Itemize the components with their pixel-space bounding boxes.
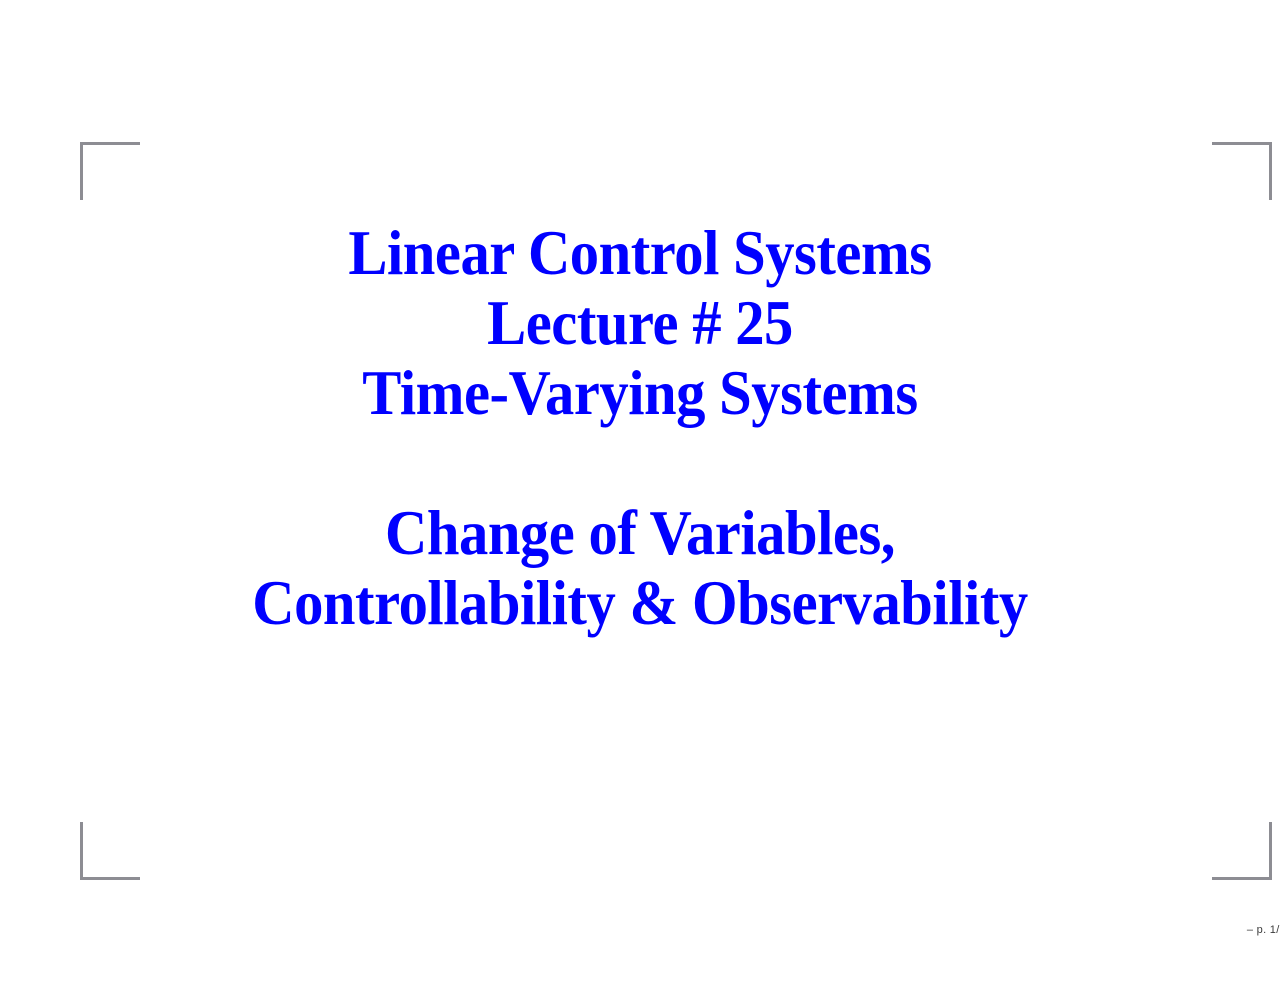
crop-mark-vertical-arm	[80, 142, 83, 200]
slide-canvas: Linear Control Systems Lecture # 25 Time…	[0, 0, 1280, 989]
slide-title-line-1: Linear Control Systems	[45, 218, 1235, 288]
crop-mark-top-right	[1212, 142, 1272, 200]
crop-mark-bottom-right	[1212, 822, 1272, 880]
crop-mark-bottom-left	[80, 822, 140, 880]
slide-title-area: Linear Control Systems Lecture # 25 Time…	[0, 218, 1280, 638]
crop-mark-horizontal-arm	[80, 877, 140, 880]
crop-mark-vertical-arm	[80, 822, 83, 880]
crop-mark-horizontal-arm	[1212, 142, 1272, 145]
crop-mark-vertical-arm	[1269, 822, 1272, 880]
crop-mark-top-left	[80, 142, 140, 200]
slide-subtitle-line-1: Change of Variables,	[45, 498, 1235, 568]
slide-title-line-2: Lecture # 25	[45, 288, 1235, 358]
crop-mark-horizontal-arm	[80, 142, 140, 145]
crop-mark-vertical-arm	[1269, 142, 1272, 200]
title-subtitle-spacer	[0, 428, 1280, 498]
slide-title-line-3: Time-Varying Systems	[45, 358, 1235, 428]
crop-mark-horizontal-arm	[1212, 877, 1272, 880]
page-number-marker: – p. 1/2	[1247, 924, 1280, 936]
slide-subtitle-line-2: Controllability & Observability	[45, 568, 1235, 638]
